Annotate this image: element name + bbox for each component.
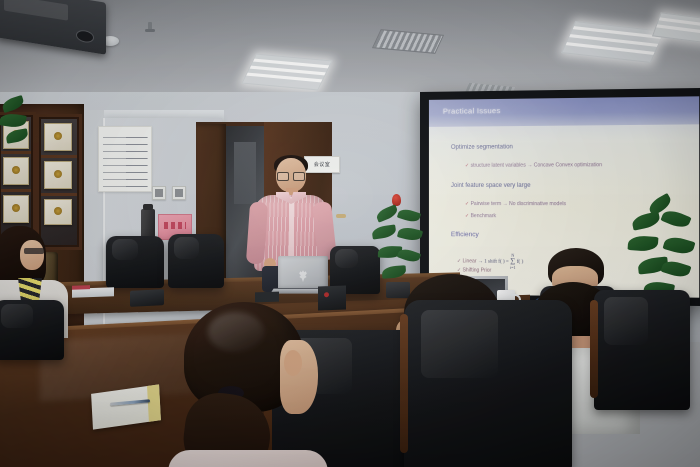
- slide-section-header: Efficiency: [451, 231, 479, 238]
- slide-efficiency-text: Shifting Prior: [463, 267, 492, 273]
- chair[interactable]: [0, 300, 64, 360]
- sunglasses-icon: [24, 248, 44, 254]
- attendee-torso: [168, 450, 328, 467]
- slide-sub-bullet-text: structure latent variables → Concave Con…: [471, 162, 603, 169]
- check-icon: ✓: [465, 213, 469, 219]
- slide-bullet: Joint feature space very large: [451, 183, 531, 189]
- projector-lens-icon: [76, 29, 94, 44]
- attendee-ear: [284, 350, 302, 376]
- conference-room-scene: 会议室 Practical Issues Optimize segmentati…: [0, 0, 700, 467]
- attendee-head: [20, 240, 44, 270]
- door-handle[interactable]: [336, 214, 346, 218]
- certificate: [44, 161, 72, 189]
- posted-notice: [98, 126, 152, 192]
- microphone-unit[interactable]: [255, 292, 279, 303]
- slide-sub-bullet: ✓ Pairwise term → No discriminative mode…: [465, 201, 566, 207]
- slide-sub-bullet-text: Benchmark: [471, 213, 497, 219]
- light-switch[interactable]: [152, 186, 166, 200]
- slide-efficiency-item: ✓ Shifting Prior: [457, 267, 491, 273]
- chair[interactable]: [594, 290, 690, 410]
- plant-left: [0, 92, 40, 152]
- slide-sub-bullet: ✓ structure latent variables → Concave C…: [465, 162, 602, 169]
- certificate: [3, 195, 29, 223]
- formula-rhs: f( ) =: [498, 260, 508, 265]
- check-icon: ✓: [465, 201, 469, 207]
- sprinkler-icon: [148, 22, 152, 31]
- slide-title: Practical Issues: [443, 106, 501, 116]
- chair[interactable]: [106, 236, 164, 288]
- check-icon: ✓: [465, 163, 469, 169]
- chair[interactable]: [168, 234, 224, 288]
- glasses-icon: [277, 172, 305, 179]
- slide-formula: → 1 shift f( ) = N ∑ i=1 f( ): [478, 259, 523, 264]
- microphone-unit[interactable]: [130, 289, 164, 307]
- summation-icon: N ∑ i=1: [510, 254, 515, 270]
- slide-sub-bullet: ✓ Benchmark: [465, 213, 496, 219]
- attendee-head: [280, 340, 318, 414]
- check-icon: ✓: [457, 258, 461, 264]
- slide-efficiency-text: Linear: [463, 258, 477, 264]
- sum-bottom: i=1: [510, 265, 515, 269]
- slide-bullet: Optimize segmentation: [451, 144, 513, 150]
- formula-lhs: → 1 shift: [478, 259, 497, 264]
- formula-tail: f( ): [517, 260, 523, 265]
- light-switch[interactable]: [172, 186, 186, 200]
- certificate: [44, 123, 72, 151]
- chair[interactable]: [404, 300, 572, 467]
- attendee-woman-ponytail: [160, 302, 340, 467]
- slide-sub-bullet-text: Pairwise term → No discriminative models: [471, 201, 566, 207]
- laptop-lid: [278, 256, 328, 288]
- papers-on-table[interactable]: [72, 287, 114, 297]
- certificate: [44, 199, 72, 225]
- certificate: [3, 157, 29, 185]
